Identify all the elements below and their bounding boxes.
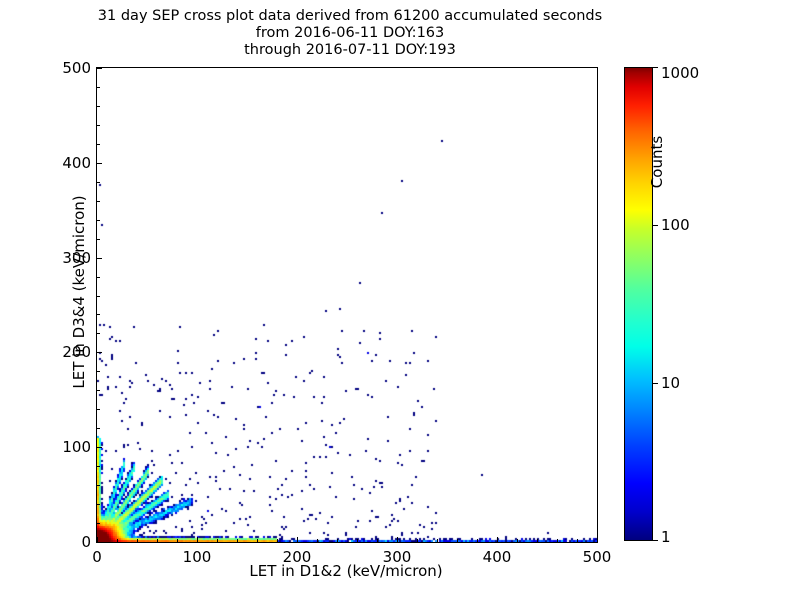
- colorbar-title: Counts: [648, 72, 666, 252]
- x-minor-tick: [257, 539, 258, 542]
- y-major-tick: [97, 163, 102, 164]
- x-minor-tick: [357, 539, 358, 542]
- x-minor-tick: [277, 539, 278, 542]
- figure-canvas: 31 day SEP cross plot data derived from …: [0, 0, 800, 600]
- y-minor-tick: [97, 182, 100, 183]
- scatter-plot-canvas[interactable]: [97, 68, 597, 542]
- y-minor-tick: [97, 125, 100, 126]
- plot-area[interactable]: 0100200300400500 0100200300400500: [96, 67, 598, 543]
- x-minor-tick: [537, 539, 538, 542]
- y-major-tick: [97, 447, 102, 448]
- y-minor-tick: [97, 296, 100, 297]
- y-minor-tick: [97, 466, 100, 467]
- y-minor-tick: [97, 220, 100, 221]
- x-axis-title: LET in D1&2 (keV/micron): [96, 562, 596, 580]
- y-minor-tick: [97, 144, 100, 145]
- y-minor-tick: [97, 371, 100, 372]
- y-major-tick: [97, 258, 102, 259]
- colorbar-tick-label: 10: [661, 374, 680, 392]
- colorbar-tick-label: 1: [661, 528, 671, 546]
- x-minor-tick: [217, 539, 218, 542]
- title-line-3: through 2016-07-11 DOY:193: [0, 42, 700, 59]
- x-minor-tick: [477, 539, 478, 542]
- colorbar-tick: [653, 540, 658, 541]
- x-minor-tick: [117, 539, 118, 542]
- y-minor-tick: [97, 504, 100, 505]
- colorbar-tick: [653, 383, 658, 384]
- plot-title: 31 day SEP cross plot data derived from …: [0, 8, 700, 59]
- y-minor-tick: [97, 314, 100, 315]
- x-minor-tick: [377, 539, 378, 542]
- y-major-tick: [97, 68, 102, 69]
- x-minor-tick: [417, 539, 418, 542]
- x-minor-tick: [237, 539, 238, 542]
- y-minor-tick: [97, 390, 100, 391]
- y-minor-tick: [97, 485, 100, 486]
- title-line-1: 31 day SEP cross plot data derived from …: [0, 8, 700, 25]
- y-minor-tick: [97, 106, 100, 107]
- y-minor-tick: [97, 87, 100, 88]
- colorbar-tick: [653, 67, 658, 68]
- y-minor-tick: [97, 523, 100, 524]
- x-minor-tick: [557, 539, 558, 542]
- y-minor-tick: [97, 333, 100, 334]
- y-minor-tick: [97, 201, 100, 202]
- x-minor-tick: [317, 539, 318, 542]
- y-minor-tick: [97, 239, 100, 240]
- y-major-tick: [97, 352, 102, 353]
- x-minor-tick: [577, 539, 578, 542]
- y-axis-title: LET in D3&4 (keV/micron): [70, 55, 88, 529]
- y-minor-tick: [97, 409, 100, 410]
- x-minor-tick: [437, 539, 438, 542]
- x-minor-tick: [457, 539, 458, 542]
- title-line-2: from 2016-06-11 DOY:163: [0, 25, 700, 42]
- x-minor-tick: [137, 539, 138, 542]
- x-minor-tick: [157, 539, 158, 542]
- y-minor-tick: [97, 428, 100, 429]
- x-minor-tick: [177, 539, 178, 542]
- x-minor-tick: [337, 539, 338, 542]
- y-minor-tick: [97, 277, 100, 278]
- colorbar-tick-label: 1000: [661, 64, 699, 82]
- x-minor-tick: [517, 539, 518, 542]
